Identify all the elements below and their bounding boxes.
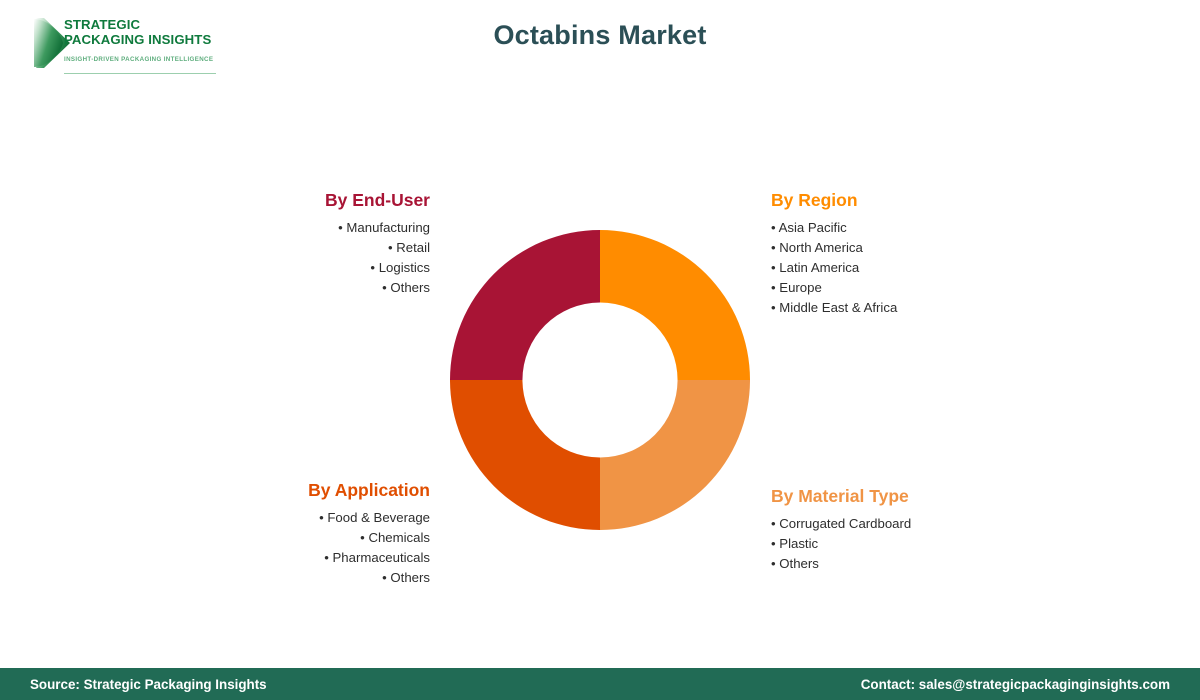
segment-material-type: By Material Type • Corrugated Cardboard•…	[771, 486, 1031, 574]
list-item: • Latin America	[771, 258, 1031, 278]
segment-end-user-list: • Manufacturing• Retail• Logistics• Othe…	[228, 218, 430, 298]
donut-slice-material[interactable]	[600, 380, 750, 530]
donut-chart-svg	[450, 230, 750, 530]
footer-contact: Contact: sales@strategicpackaginginsight…	[861, 677, 1170, 692]
list-item: • Chemicals	[218, 528, 430, 548]
list-item: • Plastic	[771, 534, 1031, 554]
donut-slice-application[interactable]	[450, 380, 600, 530]
list-item-label: Others	[779, 556, 819, 571]
segment-application: By Application • Food & Beverage• Chemic…	[218, 480, 430, 588]
footer-bar: Source: Strategic Packaging Insights Con…	[0, 668, 1200, 700]
donut-slice-region[interactable]	[600, 230, 750, 380]
infographic-page: STRATEGIC PACKAGING INSIGHTS INSIGHT-DRI…	[0, 0, 1200, 700]
list-item: • Europe	[771, 278, 1031, 298]
logo-divider	[64, 73, 216, 74]
logo-tagline: INSIGHT-DRIVEN PACKAGING INTELLIGENCE	[64, 56, 229, 63]
list-item: • Others	[228, 278, 430, 298]
list-item-label: Others	[390, 280, 430, 295]
donut-slice-end-user[interactable]	[450, 230, 600, 380]
list-item: • Logistics	[228, 258, 430, 278]
list-item-label: North America	[779, 240, 863, 255]
list-item-label: Chemicals	[368, 530, 430, 545]
list-item: • Corrugated Cardboard	[771, 514, 1031, 534]
segment-end-user-heading: By End-User	[228, 190, 430, 211]
list-item: • Asia Pacific	[771, 218, 1031, 238]
list-item: • Retail	[228, 238, 430, 258]
list-item-label: Pharmaceuticals	[333, 550, 430, 565]
segment-region-heading: By Region	[771, 190, 1031, 211]
page-title: Octabins Market	[0, 20, 1200, 51]
list-item-label: Food & Beverage	[327, 510, 430, 525]
list-item-label: Retail	[396, 240, 430, 255]
bullet-icon: •	[324, 550, 332, 565]
segment-region: By Region • Asia Pacific• North America•…	[771, 190, 1031, 318]
footer-source: Source: Strategic Packaging Insights	[30, 677, 267, 692]
bullet-icon: •	[370, 260, 378, 275]
list-item-label: Plastic	[779, 536, 818, 551]
segment-application-heading: By Application	[218, 480, 430, 501]
list-item: • Pharmaceuticals	[218, 548, 430, 568]
list-item: • Others	[771, 554, 1031, 574]
list-item-label: Others	[390, 570, 430, 585]
bullet-icon: •	[771, 220, 779, 235]
segment-application-list: • Food & Beverage• Chemicals• Pharmaceut…	[218, 508, 430, 588]
segment-end-user: By End-User • Manufacturing• Retail• Log…	[228, 190, 430, 298]
donut-slices	[450, 230, 750, 530]
list-item-label: Europe	[779, 280, 822, 295]
list-item-label: Asia Pacific	[779, 220, 847, 235]
list-item-label: Corrugated Cardboard	[779, 516, 911, 531]
list-item-label: Middle East & Africa	[779, 300, 897, 315]
list-item-label: Logistics	[379, 260, 430, 275]
list-item: • Middle East & Africa	[771, 298, 1031, 318]
segment-material-type-list: • Corrugated Cardboard• Plastic• Others	[771, 514, 1031, 574]
list-item-label: Latin America	[779, 260, 859, 275]
list-item: • Manufacturing	[228, 218, 430, 238]
list-item: • Others	[218, 568, 430, 588]
segment-material-type-heading: By Material Type	[771, 486, 1031, 507]
donut-chart	[450, 230, 750, 530]
segment-region-list: • Asia Pacific• North America• Latin Ame…	[771, 218, 1031, 318]
list-item: • Food & Beverage	[218, 508, 430, 528]
list-item-label: Manufacturing	[346, 220, 430, 235]
list-item: • North America	[771, 238, 1031, 258]
